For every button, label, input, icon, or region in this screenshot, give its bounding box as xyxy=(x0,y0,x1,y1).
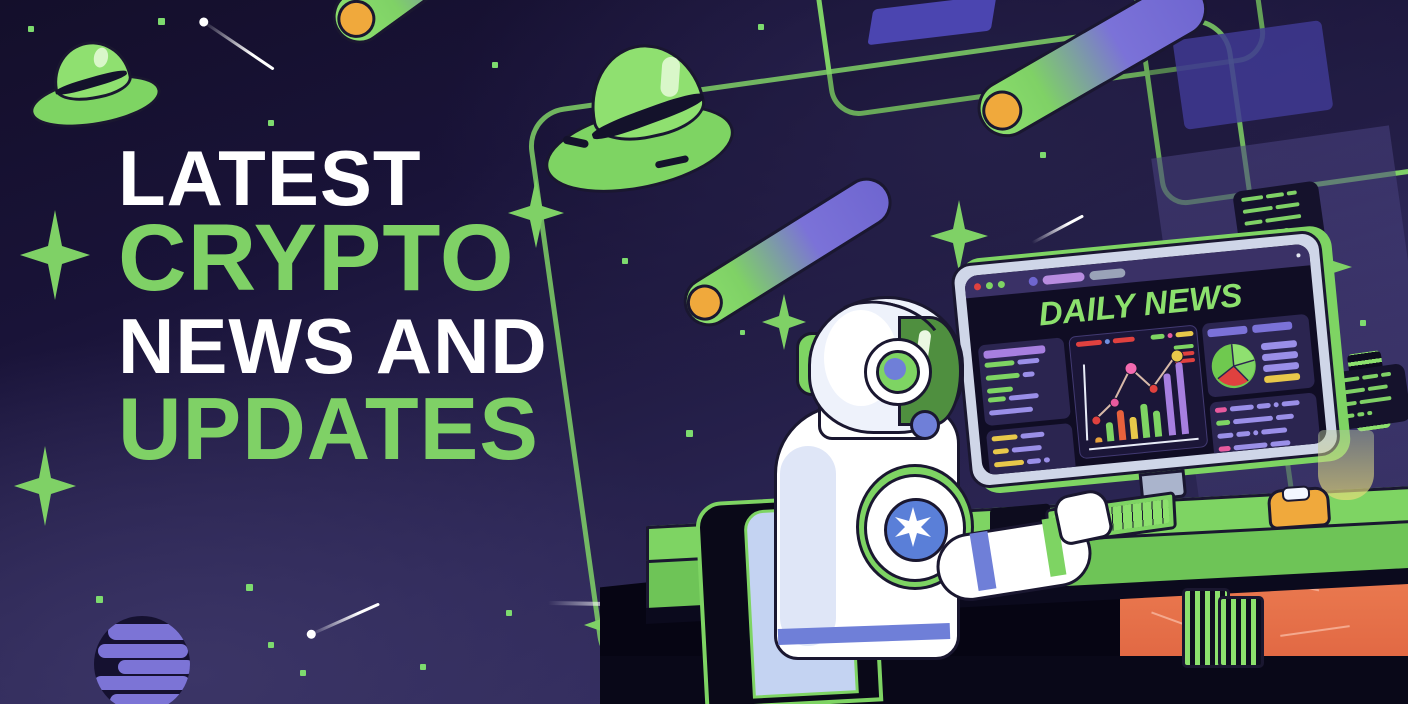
star-badge-icon xyxy=(892,506,934,548)
ufo-top-left xyxy=(19,28,158,137)
star xyxy=(622,258,628,264)
star xyxy=(1040,152,1046,158)
astronaut-torso-shade xyxy=(780,446,836,646)
headline-line-2: CRYPTO xyxy=(118,212,548,305)
star xyxy=(420,664,426,670)
address-bar[interactable] xyxy=(1042,272,1085,285)
orange-device xyxy=(1267,486,1332,530)
shooting-star xyxy=(203,20,274,68)
striped-planet xyxy=(94,616,190,704)
astronaut xyxy=(760,296,1090,696)
browser-dot-green[interactable] xyxy=(986,281,994,289)
browser-dot-green-2[interactable] xyxy=(998,280,1006,288)
star xyxy=(1360,320,1366,326)
shooting-star xyxy=(309,603,378,634)
page-title: LATEST CRYPTO NEWS AND UPDATES xyxy=(118,140,548,472)
star xyxy=(246,584,253,591)
sparkle-icon xyxy=(14,446,76,526)
glass-flask xyxy=(1318,430,1374,500)
star xyxy=(268,642,274,648)
banner-illustration: DAILY NEWS xyxy=(0,0,1408,704)
star xyxy=(28,26,34,32)
star xyxy=(686,430,693,437)
star xyxy=(268,120,274,126)
star xyxy=(96,596,103,603)
star xyxy=(300,670,306,676)
ufo-gloss xyxy=(660,56,681,97)
browser-dot-red[interactable] xyxy=(974,282,982,290)
pie-chart xyxy=(1209,341,1259,391)
headline-line-4: UPDATES xyxy=(118,386,548,472)
comet-top-left xyxy=(322,0,536,49)
panel-right-top xyxy=(1202,314,1315,398)
headline-line-3: NEWS AND xyxy=(118,308,548,384)
star xyxy=(740,330,745,335)
star xyxy=(158,18,165,25)
star xyxy=(758,24,764,30)
helmet-connector xyxy=(910,410,940,440)
canister xyxy=(1218,596,1264,668)
tab-indicator[interactable] xyxy=(1028,276,1038,286)
star xyxy=(492,62,498,68)
browser-menu-dot[interactable] xyxy=(1296,253,1300,257)
star xyxy=(506,610,512,616)
secondary-bar[interactable] xyxy=(1089,268,1126,280)
sparkle-icon xyxy=(20,210,90,300)
bar xyxy=(1095,437,1102,443)
